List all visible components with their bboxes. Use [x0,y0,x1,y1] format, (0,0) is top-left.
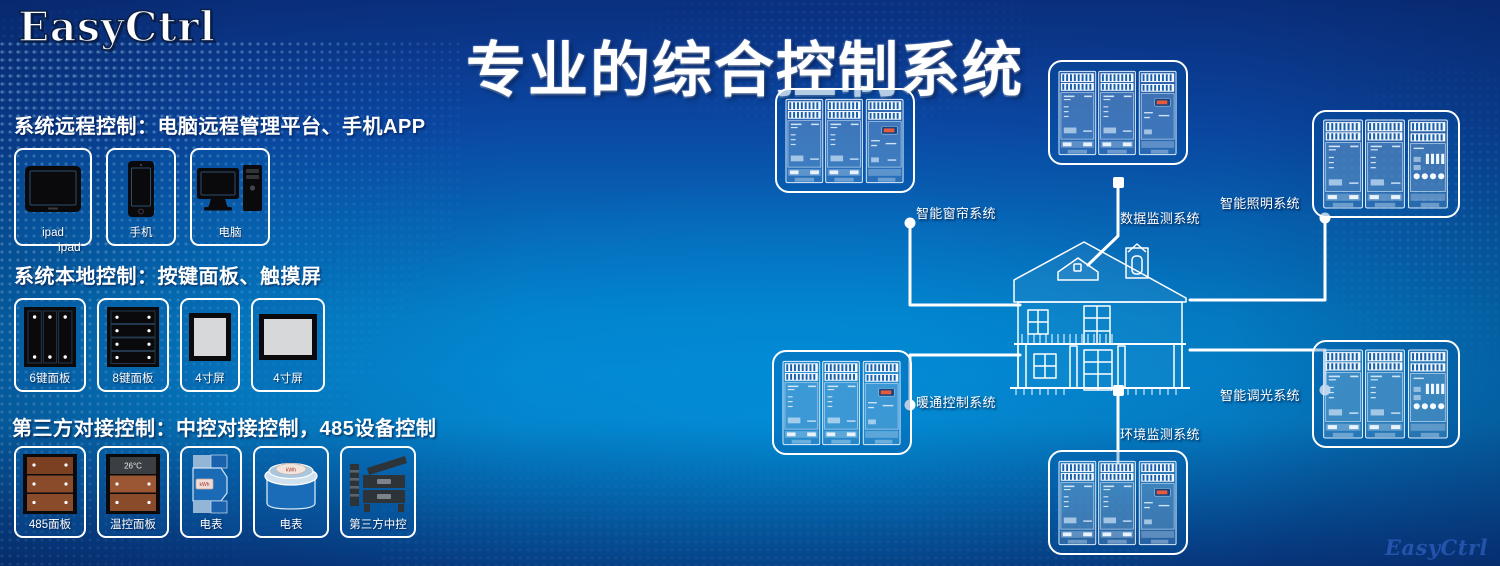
din-module-group [782,358,902,448]
controller-module-lighting[interactable] [1312,110,1460,218]
section-heading-local-control: 系统本地控制：按键面板、触摸屏 [14,260,322,289]
eight-key-panel-icon [99,300,167,374]
desktop-computer-icon [192,150,268,228]
din-module-group [1322,118,1450,210]
controller-module-hvac[interactable] [772,350,912,455]
ipad-note-label: ipad [58,240,81,254]
electric-meter-din-icon: kWh [182,448,240,520]
device-card-8key-panel[interactable]: 8键面板 [97,298,169,392]
controller-module-environment[interactable] [1048,450,1188,555]
device-card-phone[interactable]: 手机 [106,148,176,246]
brand-logo: EasyCtrl [18,3,215,51]
third-party-controller-icon [342,448,414,520]
poster-canvas: EasyCtrl 专业的综合控制系统 系统远程控制：电脑远程管理平台、手机APP… [0,0,1500,566]
node-label-data-monitoring: 数据监测系统 [1120,208,1200,227]
din-module-group [1058,68,1178,158]
svg-text:kWh: kWh [286,467,296,473]
brand-watermark: EasyCtrl [1385,535,1488,560]
controller-module-curtain[interactable] [775,88,915,193]
thermostat-temperature-display: 26°C [124,461,142,470]
device-card-label: 4寸屏 [273,374,302,391]
device-card-touchscreen-4in-b[interactable]: 4寸屏 [251,298,325,392]
touchscreen-wide-icon [253,300,323,374]
electric-meter-round-icon: kWh [255,448,327,520]
device-card-thermostat-panel[interactable]: 26°C 温控面板 [97,446,169,538]
device-card-meter-round[interactable]: kWh 电表 [253,446,329,538]
tablet-icon [16,150,90,228]
device-card-label: 电表 [200,520,223,537]
house-illustration [1000,238,1200,398]
device-card-meter-din[interactable]: kWh 电表 [180,446,242,538]
device-card-third-party-controller[interactable]: 第三方中控 [340,446,416,538]
device-card-label: 手机 [130,228,153,245]
system-topology-diagram: 智能窗帘系统 数据监测系统 智能照明系统 暖通控制系统 智能调光系统 环境监测系… [720,60,1500,566]
device-card-label: 6键面板 [30,374,71,391]
controller-module-dimming[interactable] [1312,340,1460,448]
device-card-label: 温控面板 [110,520,156,537]
device-card-label: 485面板 [29,520,71,537]
touchscreen-small-icon [182,300,238,374]
device-card-label: 8键面板 [113,374,154,391]
device-card-label: 电表 [280,520,303,537]
node-label-dimming: 智能调光系统 [1220,385,1300,404]
controller-module-data-monitoring[interactable] [1048,60,1188,165]
smartphone-icon [108,150,174,228]
din-module-group [1322,348,1450,440]
node-label-lighting: 智能照明系统 [1220,193,1300,212]
device-card-6key-panel[interactable]: 6键面板 [14,298,86,392]
device-card-touchscreen-4in-a[interactable]: 4寸屏 [180,298,240,392]
node-label-curtain: 智能窗帘系统 [916,203,996,222]
device-card-485-panel[interactable]: 485面板 [14,446,86,538]
device-card-label: 4寸屏 [195,374,224,391]
section-heading-remote-control: 系统远程控制：电脑远程管理平台、手机APP [14,110,426,139]
device-card-label: 电脑 [219,228,242,245]
remote-control-card-row: ipad 手机 [14,148,270,246]
thermostat-panel-icon: 26°C [99,448,167,520]
din-module-group [1058,458,1178,548]
third-party-card-row: 485面板 26°C 温控面板 [14,446,416,538]
rs485-panel-icon [16,448,84,520]
svg-text:kWh: kWh [200,482,210,488]
six-key-panel-icon [16,300,84,374]
device-card-computer[interactable]: 电脑 [190,148,270,246]
din-module-group [785,96,905,186]
device-card-label: 第三方中控 [349,520,407,537]
local-control-card-row: 6键面板 [14,298,325,392]
section-heading-third-party: 第三方对接控制：中控对接控制，485设备控制 [12,412,436,441]
node-label-environment: 环境监测系统 [1120,424,1200,443]
device-card-ipad[interactable]: ipad [14,148,92,246]
node-label-hvac: 暖通控制系统 [916,392,996,411]
